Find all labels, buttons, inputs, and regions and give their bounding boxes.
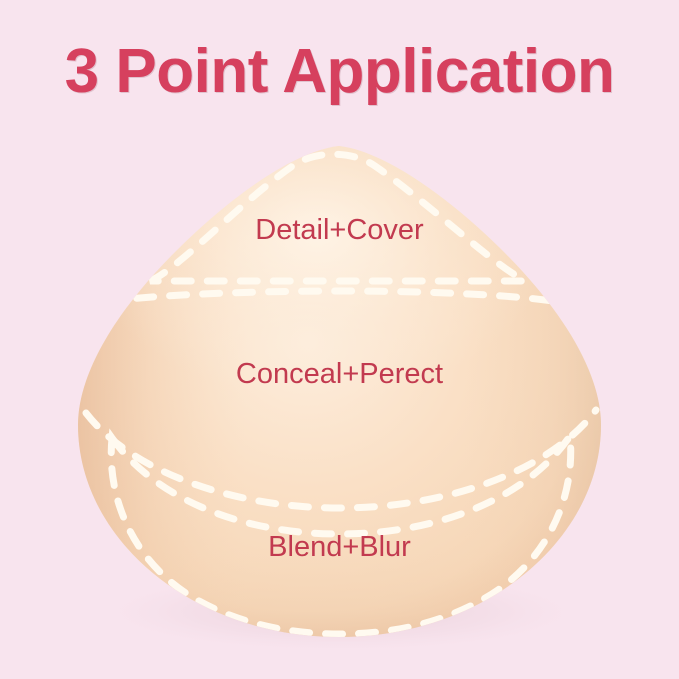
product-infographic-page: 3 Point Application xyxy=(0,0,679,679)
sponge-illustration xyxy=(0,0,679,679)
sponge-body xyxy=(60,130,620,660)
